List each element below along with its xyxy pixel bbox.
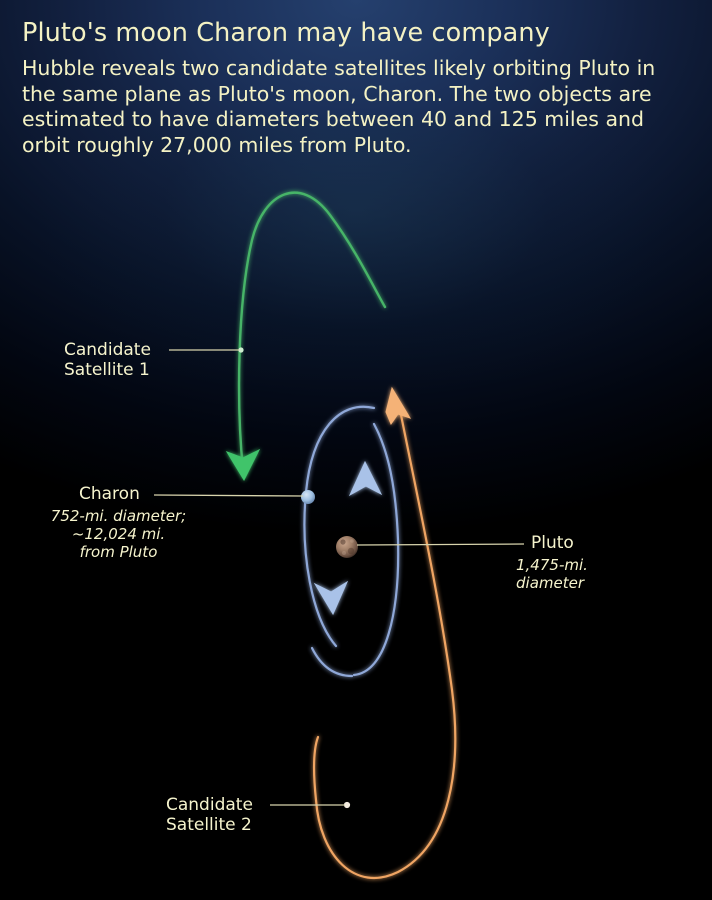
charon-body xyxy=(301,490,315,504)
pluto-body xyxy=(336,536,358,558)
label-charon: Charon xyxy=(79,484,140,504)
page-title: Pluto's moon Charon may have company xyxy=(22,18,550,48)
charon-direction-arrow-down xyxy=(315,582,347,614)
infographic-poster: Pluto's moon Charon may have company Hub… xyxy=(0,0,712,900)
label-pluto-detail: 1,475-mi. diameter xyxy=(516,556,626,592)
candidate-satellite-1-direction-arrow xyxy=(227,450,259,480)
candidate-satellite-2-direction-arrow xyxy=(386,388,410,424)
leader-line-charon xyxy=(154,495,303,496)
label-candidate-satellite-2: Candidate Satellite 2 xyxy=(166,795,253,835)
leader-line-pluto xyxy=(357,544,524,545)
label-charon-detail: 752-mi. diameter; ~12,024 mi. from Pluto xyxy=(26,507,211,561)
page-subtitle: Hubble reveals two candidate satellites … xyxy=(22,56,694,158)
label-candidate-satellite-1: Candidate Satellite 1 xyxy=(64,340,151,380)
candidate-satellite-1-orbit xyxy=(227,193,385,480)
charon-direction-arrow-up xyxy=(350,462,381,495)
candidate-satellite-1-marker xyxy=(238,347,243,352)
label-pluto: Pluto xyxy=(531,533,574,553)
